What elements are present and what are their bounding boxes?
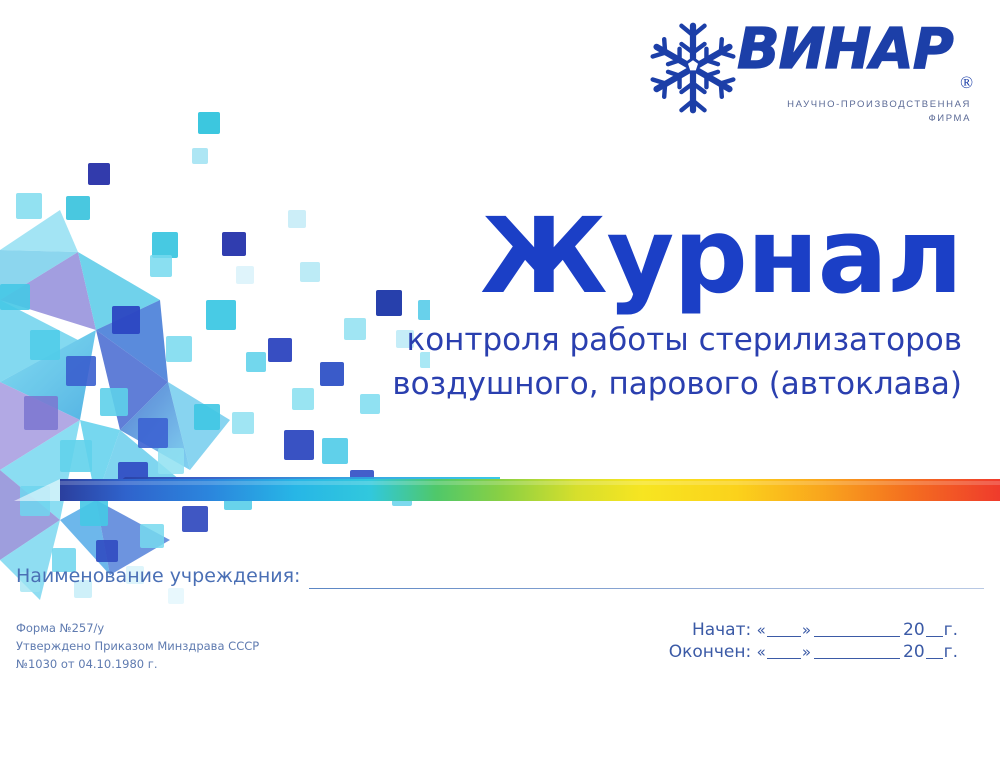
date-started-year-unit: г. <box>944 620 958 640</box>
brand-tagline: НАУЧНО-ПРОИЗВОДСТВЕННАЯ ФИРМА <box>787 98 971 126</box>
date-row-finished: Окончен: «»20г. <box>669 641 958 663</box>
date-started-day-blank[interactable] <box>767 636 801 637</box>
brand-wordmark: ВИНАР <box>733 16 978 86</box>
institution-field-row: Наименование учреждения: <box>16 565 984 595</box>
date-finished-month-blank[interactable] <box>814 658 900 659</box>
date-started-month-blank[interactable] <box>814 636 900 637</box>
date-finished-year-blank[interactable] <box>926 658 943 659</box>
date-finished-label: Окончен: <box>669 642 752 662</box>
quote-close-finished: » <box>802 643 811 661</box>
company-logo: ВИНАР ® НАУЧНО-ПРОИЗВОДСТВЕННАЯ ФИРМА <box>645 14 975 129</box>
date-finished-year-unit: г. <box>944 642 958 662</box>
page-title: Журнал <box>342 206 962 308</box>
institution-input-line[interactable] <box>309 588 984 589</box>
date-row-started: Начат: «»20г. <box>669 619 958 641</box>
subtitle-line-1: контроля работы стерилизаторов <box>342 318 962 362</box>
dates-block: Начат: «»20г. Окончен: «»20г. <box>669 619 958 664</box>
institution-label: Наименование учреждения: <box>16 565 300 587</box>
date-finished-year-prefix: 20 <box>903 642 925 662</box>
snowflake-icon <box>645 20 741 116</box>
subtitle-line-2: воздушного, парового (автоклава) <box>342 362 962 406</box>
quote-open-finished: « <box>757 643 766 661</box>
quote-open-started: « <box>757 621 766 639</box>
date-finished-day-blank[interactable] <box>767 658 801 659</box>
journal-cover-page: ВИНАР ® НАУЧНО-ПРОИЗВОДСТВЕННАЯ ФИРМА Жу… <box>0 0 1000 763</box>
rainbow-band <box>0 468 1000 514</box>
quote-close-started: » <box>802 621 811 639</box>
registered-trademark-icon: ® <box>960 74 973 91</box>
date-started-label: Начат: <box>692 620 751 640</box>
form-approval-note: Форма №257/у Утверждено Приказом Минздра… <box>16 620 259 673</box>
brand-name-text: ВИНАР <box>737 17 954 82</box>
date-started-year-prefix: 20 <box>903 620 925 640</box>
title-block: Журнал контроля работы стерилизаторов во… <box>342 206 962 406</box>
date-started-year-blank[interactable] <box>926 636 943 637</box>
